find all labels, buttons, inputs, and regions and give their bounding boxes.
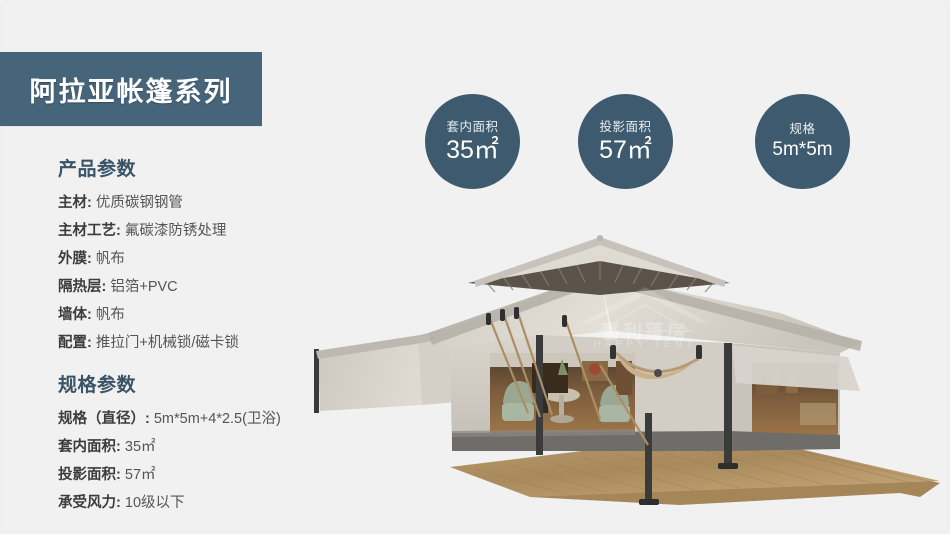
param-key: 投影面积: [58,467,121,483]
poster-canvas: 阿拉亚帐篷系列 产品参数 主材: 优质碳钢钢管 主材工艺: 氟碳漆防锈处理 外膜… [0,0,950,534]
badge-value: 35㎡ [446,136,499,165]
stat-badge-dimensions: 规格 5m*5m [755,94,850,189]
stat-badge-interior-area: 套内面积 35㎡ [425,94,520,189]
post-deck-right [645,413,652,503]
param-key: 外膜: [58,251,92,267]
tent-illustration: 喜利蓬房 HAPPY TENT [300,235,950,510]
param-value: 10级以下 [125,495,185,511]
badge-value: 57㎡ [599,136,652,165]
param-value: 优质碳钢钢管 [96,195,183,211]
param-key: 规格（直径）: [58,411,150,427]
roof-finial [597,235,603,241]
param-key: 主材工艺: [58,223,121,239]
badge-label: 投影面积 [599,119,651,135]
badge-value: 5m*5m [772,138,832,162]
param-value: 氟碳漆防锈处理 [125,223,227,239]
param-key: 配置: [58,335,92,351]
param-value: 35㎡ [125,439,156,455]
param-value: 5m*5m+4*2.5(卫浴) [154,411,281,427]
param-key: 隔热层: [58,279,106,295]
param-key: 主材: [58,195,92,211]
param-value: 铝箔+PVC [110,279,177,295]
badge-label: 规格 [789,121,815,137]
list-item: 主材: 优质碳钢钢管 [58,189,358,217]
series-title-text: 阿拉亚帐篷系列 [30,70,233,109]
post-front-center [724,343,732,465]
param-value: 推拉门+机械锁/磁卡锁 [96,335,239,351]
post-base-right [639,499,659,505]
stat-badge-projected-area: 投影面积 57㎡ [578,94,673,189]
post-front-left [536,335,543,455]
param-key: 承受风力: [58,495,121,511]
product-params-heading: 产品参数 [58,157,358,183]
param-value: 帆布 [96,307,125,323]
param-key: 墙体: [58,307,92,323]
post-base-center [718,463,738,469]
badge-label: 套内面积 [446,119,498,135]
param-value: 帆布 [96,251,125,267]
param-key: 套内面积: [58,439,121,455]
param-value: 57㎡ [125,467,156,483]
series-title-banner: 阿拉亚帐篷系列 [0,52,262,126]
tent-render-svg [300,235,950,510]
